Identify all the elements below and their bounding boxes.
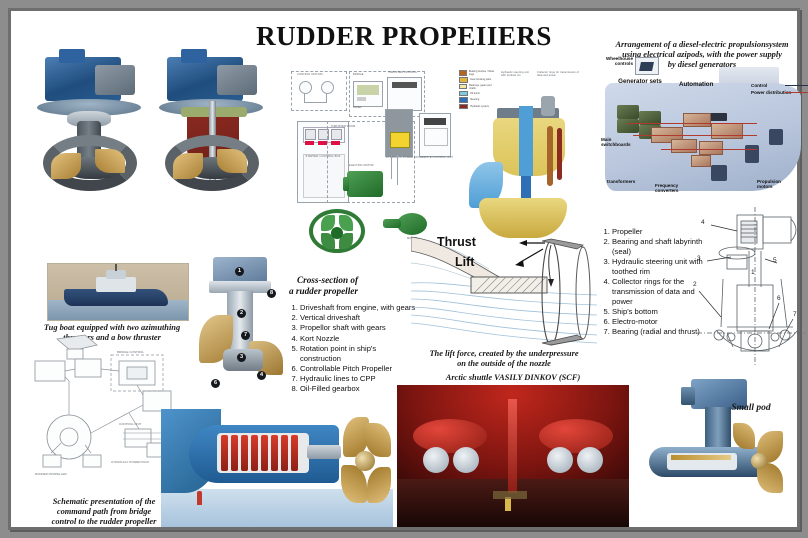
legend-item: Steering — [459, 97, 495, 103]
propeller — [547, 447, 573, 473]
bridge-schematic-svg: BRIDGE CONTROL CONTROL UNIT HYDRAULIC PO… — [27, 333, 183, 483]
azipod-unit — [539, 419, 613, 453]
list-item: Collector rings for the transmission of … — [612, 277, 704, 306]
main-switchboard — [683, 113, 711, 127]
arctic-shuttle-caption: Arctic shuttle VASILY DINKOV (SCF) — [397, 373, 629, 383]
propulsion-motor — [769, 129, 783, 145]
legend-label: Steering — [470, 98, 479, 101]
legend-line-control — [785, 85, 808, 86]
pod-auxiliary-block — [681, 387, 695, 405]
transformer — [671, 139, 697, 153]
thruster-drive — [383, 219, 401, 228]
wire — [304, 102, 327, 103]
callout-badge: 2 — [237, 309, 246, 318]
hydraulic-power-unit — [385, 109, 413, 157]
propeller-shaft — [307, 445, 341, 459]
vertical-driveshaft — [519, 106, 533, 176]
propeller-blade — [95, 149, 125, 173]
generator-set — [617, 105, 639, 119]
legend-swatch — [459, 104, 468, 110]
svg-text:CONTROL UNIT: CONTROL UNIT — [119, 422, 142, 426]
propeller-blade — [217, 149, 247, 173]
svg-text:BRIDGE CONTROL: BRIDGE CONTROL — [117, 350, 144, 354]
callout-badge: 1 — [235, 267, 244, 276]
propeller-hub — [355, 451, 375, 471]
legend-swatch — [459, 97, 468, 103]
legend-line-power — [785, 92, 808, 93]
small-pod-caption: Small pod — [711, 403, 791, 414]
legend-item: Bearings, gears and shafts — [459, 84, 495, 90]
list-item: Propeller — [612, 227, 704, 237]
callout-number: 1 — [751, 269, 755, 276]
tug-deckhouse — [96, 277, 136, 292]
label-bridge: BRIDGE — [353, 73, 364, 76]
legend-item: Oil ducts — [459, 91, 495, 97]
technical-drawing-svg — [697, 207, 805, 377]
callout-number: 6 — [777, 295, 781, 302]
legend-swatch — [459, 70, 467, 76]
lift-label: Lift — [455, 255, 474, 269]
label-remote-unit: REMOTE CONTROL UNIT — [420, 156, 453, 159]
engine-cylinder — [241, 435, 248, 471]
rudder-propeller-cross-section-photo: 1 8 2 7 3 4 6 — [199, 253, 285, 393]
label-frequency-converters: Frequency converters — [655, 183, 695, 194]
collector-rings — [541, 96, 555, 116]
lift-caption: The lift force, created by the underpres… — [405, 349, 603, 369]
controllable-pitch-propeller — [337, 417, 393, 509]
callout-badge: 4 — [257, 371, 266, 380]
tug-mast — [115, 263, 117, 271]
propeller-blade — [733, 423, 755, 449]
callout-number: 4 — [701, 219, 705, 226]
tugboat-photo — [47, 263, 189, 321]
callout-number: 5 — [773, 257, 777, 264]
staging-platform — [493, 491, 527, 499]
color-legend: Bearing bushes / Wear rings Gear housing… — [459, 70, 495, 110]
propeller — [423, 447, 449, 473]
callout-hydraulic-steering: Hydraulic steering unit with toothed rim — [501, 71, 531, 77]
motor-end-cap — [343, 177, 349, 191]
power-line — [633, 135, 757, 136]
propeller — [577, 447, 603, 473]
transformer — [699, 141, 723, 155]
engine-cylinder — [251, 435, 258, 471]
engine-cylinder — [281, 435, 288, 471]
callout-collector-rings: Collector rings for transmission of data… — [537, 71, 581, 77]
label-electric-motor: ELECTRIC MOTOR — [349, 164, 374, 167]
diesel-legend: Control Power distribution — [751, 83, 791, 93]
label-propulsion-motors: Propulsion motors — [757, 179, 797, 190]
propeller-blade — [173, 153, 203, 179]
power-line — [661, 149, 757, 150]
engine-cylinder — [291, 435, 298, 471]
list-item: Electro-motor — [612, 317, 704, 327]
callout-number: 7 — [793, 311, 797, 318]
bridge-command-schematic: BRIDGE CONTROL CONTROL UNIT HYDRAULIC PO… — [27, 333, 183, 485]
legend-label: Bearings, gears and shafts — [469, 84, 495, 90]
electric-motor-block — [95, 65, 135, 95]
list-item: Kort Nozzle — [300, 334, 418, 344]
cross-section-heading: Cross-section of a rudder propeller — [289, 275, 405, 297]
poster-canvas: RUDDER PROPEIIERS Tug boat equipp — [8, 8, 800, 530]
callout-badge: 7 — [241, 331, 250, 340]
propeller-hub — [751, 453, 767, 469]
legend-swatch — [459, 91, 468, 97]
diesel-electric-diagram: Wheelhouse controls Control Power distri… — [599, 39, 805, 209]
label-wheelhouse-controls: Wheelhouse controls — [605, 56, 633, 66]
cpp-cutaway-illustration — [161, 409, 393, 527]
propulsion-motor — [711, 165, 727, 181]
engine-cylinder — [261, 435, 268, 471]
label-control-station: CONTROL STATION — [297, 73, 323, 76]
power-line — [627, 123, 757, 124]
pod-shaft — [671, 455, 731, 460]
legend-label: Gear housing parts — [470, 78, 491, 81]
small-pod-illustration — [633, 379, 805, 527]
frequency-converter — [691, 155, 711, 167]
indicator-gauge — [299, 81, 312, 94]
list-item: Bearing and shaft labyrinth (seal) — [612, 237, 704, 256]
thrust-label: Thrust — [437, 235, 476, 249]
indicator-gauge — [321, 81, 334, 94]
legend-swatch — [459, 84, 467, 90]
engine-cylinder — [271, 435, 278, 471]
legend-swatch — [459, 77, 468, 83]
electric-motor-block — [217, 65, 257, 95]
callout-number: 2 — [693, 281, 697, 288]
nozzle-lift-diagram: Thrust Lift The lift force, created by t… — [411, 221, 597, 371]
label-panel: PANEL — [353, 106, 362, 109]
propulsion-motor — [745, 145, 759, 163]
list-item: Driveshaft from engine, with gears — [300, 303, 418, 313]
callout-badge: 6 — [211, 379, 220, 388]
label-thruster-control: THRUSTER CONTROL — [388, 71, 417, 74]
list-item: Bearing (radial and thrust) — [612, 327, 704, 337]
hydraulic-line — [391, 155, 392, 179]
legend-label: Oil ducts — [470, 92, 480, 95]
arctic-shuttle-photo — [397, 385, 629, 527]
drive-housing-cap — [59, 49, 85, 63]
azipod-unit — [413, 419, 487, 453]
hydraulic-line — [397, 155, 398, 185]
list-item: Ship's bottom — [612, 307, 704, 317]
engine-cylinder — [221, 435, 228, 471]
propeller — [453, 447, 479, 473]
azimuth-thruster-render-cutaway — [159, 57, 269, 207]
list-item: Hydraulic steering unit with toothed rim — [612, 257, 704, 276]
thruster-hub — [331, 227, 343, 239]
azipod-technical-drawing: 4 3 2 5 6 7 1 — [697, 207, 805, 377]
scale-figure — [197, 491, 202, 505]
tug-wheelhouse — [106, 270, 126, 279]
azimuth-thruster-render-intact — [37, 57, 147, 207]
propeller-blade — [51, 153, 81, 179]
main-switchboard — [711, 123, 743, 139]
azipod-component-list: Propeller Bearing and shaft labyrinth (s… — [599, 227, 704, 337]
list-item: Rotation point in ship's construction — [300, 344, 418, 363]
list-item: Vertical driveshaft — [300, 313, 418, 323]
label-main-switchboards: Main switchboards — [601, 137, 641, 148]
warning-plate — [390, 132, 410, 148]
label-transformers: transformers — [607, 179, 635, 184]
callout-badge: 3 — [237, 353, 246, 362]
hull-centerline-keel — [508, 399, 517, 493]
list-item: Propellor shaft with gears — [300, 323, 418, 333]
legend-item: Bearing bushes / Wear rings — [459, 70, 495, 76]
propeller-blade — [367, 467, 391, 503]
hydraulic-line — [557, 128, 562, 180]
legend-item: Gear housing parts — [459, 77, 495, 83]
drive-housing-cap — [181, 49, 207, 63]
label-automation: Automation — [679, 81, 713, 88]
hydraulic-line — [547, 126, 553, 186]
bridge-panel-unit — [353, 81, 383, 107]
legend-label: Hydraulic system — [470, 105, 489, 108]
label-generator-sets: Generator sets — [615, 79, 665, 86]
svg-text:RUDDER PROPELLER: RUDDER PROPELLER — [35, 472, 68, 476]
thruster-control-unit — [387, 77, 422, 111]
electric-motor — [347, 171, 383, 197]
worker-figure — [505, 497, 511, 511]
svg-text:HYDRAULIC POWER PACK: HYDRAULIC POWER PACK — [111, 460, 149, 464]
generator-set — [617, 119, 639, 133]
legend-label: Bearing bushes / Wear rings — [469, 70, 495, 76]
legend-item: Hydraulic system — [459, 104, 495, 110]
callout-number: 3 — [697, 255, 701, 262]
remote-control-unit — [419, 113, 451, 157]
engine-cylinder — [231, 435, 238, 471]
wheelhouse-inset — [635, 57, 659, 75]
callout-badge: 8 — [267, 289, 276, 298]
